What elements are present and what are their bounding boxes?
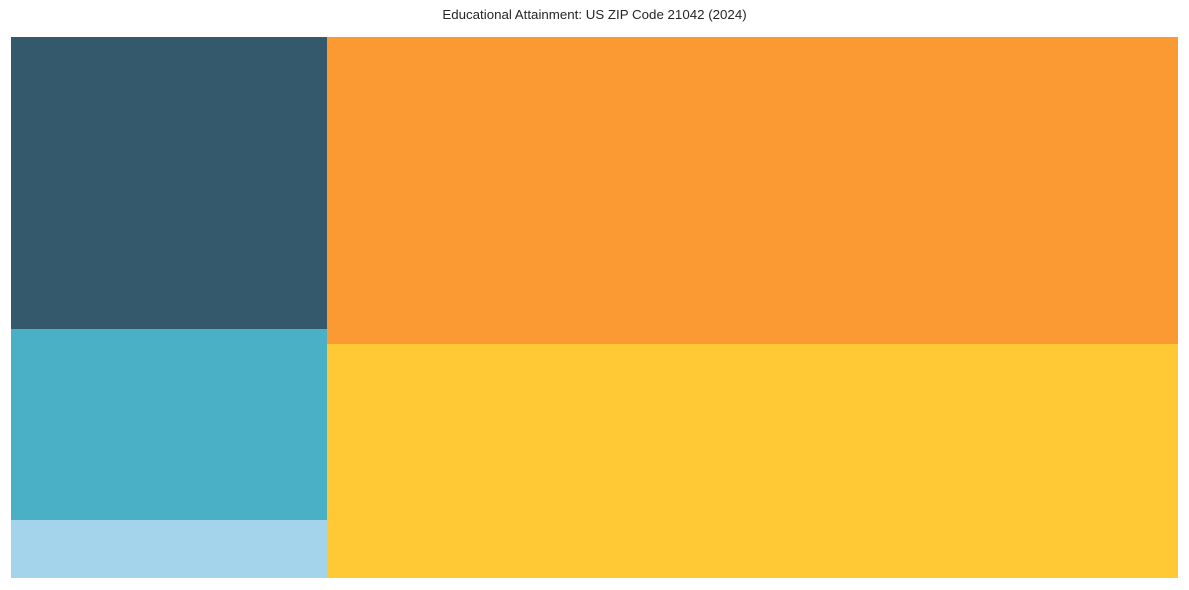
treemap-tile-hs-or-less[interactable] — [11, 520, 327, 578]
treemap-tile-not-in-labor-force[interactable] — [327, 344, 1178, 578]
treemap-tile-employed[interactable] — [327, 37, 1178, 344]
chart-title: Educational Attainment: US ZIP Code 2104… — [0, 7, 1189, 23]
treemap-plot-area — [11, 37, 1178, 578]
chart-figure: Educational Attainment: US ZIP Code 2104… — [0, 0, 1189, 590]
treemap-tile-bachelors-plus[interactable] — [11, 37, 327, 329]
treemap-column-right — [327, 37, 1178, 578]
treemap-tile-some-college[interactable] — [11, 329, 327, 520]
treemap-column-left — [11, 37, 327, 578]
